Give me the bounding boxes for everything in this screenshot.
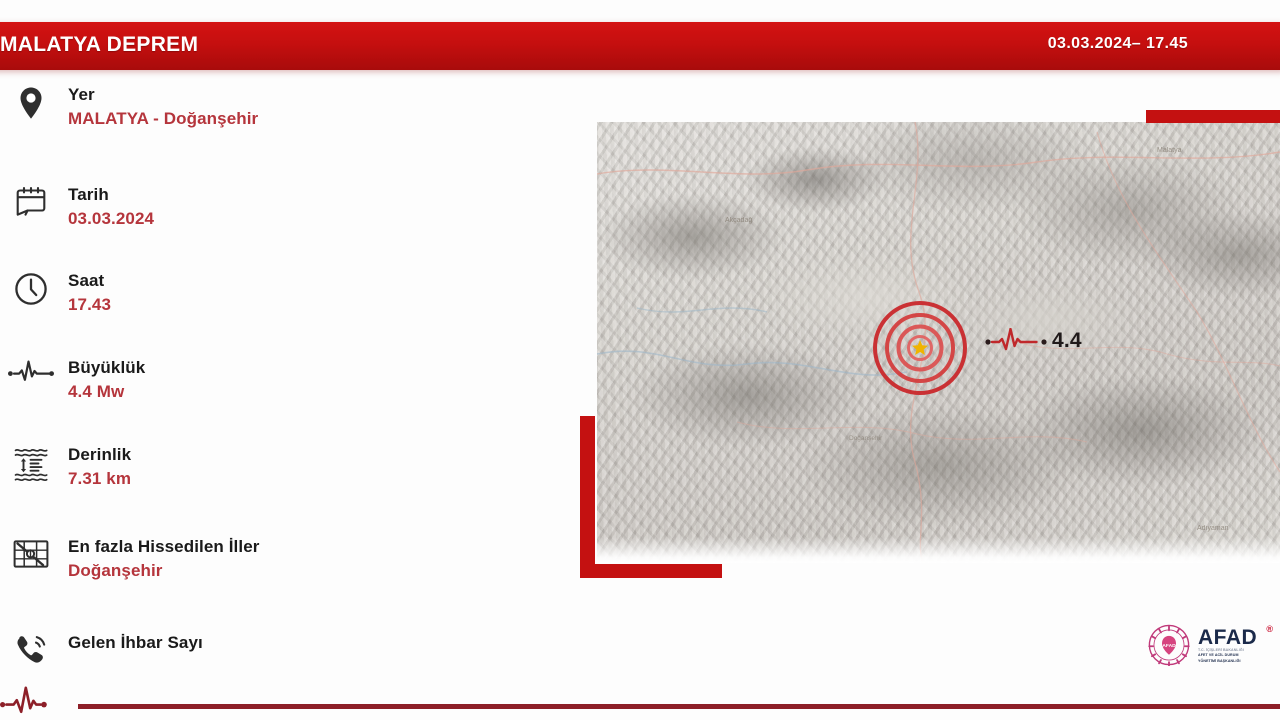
- svg-text:Doğanşehir: Doğanşehir: [849, 435, 883, 442]
- info-row-yer: Yer MALATYA - Doğanşehir: [8, 84, 548, 132]
- map-icon: [8, 536, 54, 570]
- info-text-hissedilen-iller: En fazla Hissedilen İller Doğanşehir: [54, 536, 259, 584]
- epicenter-marker: [872, 300, 968, 396]
- page-title: MALATYA DEPREM: [0, 33, 198, 57]
- info-value-tarih: 03.03.2024: [68, 207, 154, 232]
- info-label-tarih: Tarih: [68, 184, 154, 205]
- info-text-ihbar-sayi: Gelen İhbar Sayı: [54, 632, 203, 655]
- info-label-yer: Yer: [68, 84, 258, 105]
- accent-bar-bottom-horizontal: [580, 564, 722, 578]
- calendar-icon: [8, 184, 54, 218]
- depth-gauge-icon: [8, 444, 54, 484]
- turkish-republic-seal-icon: AFAD: [1148, 624, 1190, 666]
- svg-text:Akçadağ: Akçadağ: [725, 217, 752, 224]
- info-label-saat: Saat: [68, 270, 111, 291]
- accent-bar-left-vertical: [580, 416, 595, 578]
- info-row-ihbar-sayi: Gelen İhbar Sayı: [8, 632, 548, 666]
- info-value-saat: 17.43: [68, 293, 111, 318]
- seismograph-wave-icon: [985, 328, 1047, 354]
- location-pin-icon: [8, 84, 54, 120]
- afad-wordmark-block: AFAD ® T.C. İÇİŞLERİ BAKANLIĞI AFET VE A…: [1198, 623, 1270, 667]
- info-text-saat: Saat 17.43: [54, 270, 111, 318]
- seismograph-wave-icon: [8, 357, 54, 385]
- seismograph-wave-icon: [0, 682, 82, 718]
- svg-text:Malatya: Malatya: [1157, 147, 1182, 154]
- svg-text:AFAD: AFAD: [1162, 643, 1176, 649]
- footer-accent-line: [78, 704, 1280, 709]
- info-value-yer: MALATYA - Doğanşehir: [68, 107, 258, 132]
- afad-wordmark: AFAD: [1198, 623, 1270, 648]
- info-label-ihbar-sayi: Gelen İhbar Sayı: [68, 632, 203, 653]
- info-text-tarih: Tarih 03.03.2024: [54, 184, 154, 232]
- afad-registered-mark: ®: [1266, 624, 1273, 634]
- map-magnitude-label: 4.4: [985, 328, 1082, 354]
- info-text-derinlik: Derinlik 7.31 km: [54, 444, 131, 492]
- info-row-hissedilen-iller: En fazla Hissedilen İller Doğanşehir: [8, 536, 548, 584]
- info-panel: Yer MALATYA - Doğanşehir Tarih 03.03.202…: [0, 84, 560, 664]
- info-value-derinlik: 7.31 km: [68, 467, 131, 492]
- info-text-yer: Yer MALATYA - Doğanşehir: [54, 84, 258, 132]
- phone-ringing-icon: [8, 632, 54, 666]
- clock-icon: [8, 270, 54, 306]
- afad-subtitle-line3: YÖNETİMİ BAŞKANLIĞI: [1198, 659, 1270, 664]
- info-row-derinlik: Derinlik 7.31 km: [8, 444, 548, 492]
- info-text-buyukluk: Büyüklük 4.4 Mw: [54, 357, 145, 405]
- map-magnitude-value: 4.4: [1052, 329, 1082, 353]
- earthquake-info-graphic: MALATYA DEPREM 03.03.2024– 17.45 Yer MAL…: [0, 0, 1280, 720]
- afad-logo: AFAD AFAD ® T.C. İÇİŞLERİ BAKANLIĞI AFET…: [1148, 620, 1272, 670]
- info-label-hissedilen-iller: En fazla Hissedilen İller: [68, 536, 259, 557]
- header-bar: MALATYA DEPREM 03.03.2024– 17.45: [0, 22, 1280, 70]
- header-datetime: 03.03.2024– 17.45: [1048, 35, 1188, 53]
- map-bottom-fade: [597, 537, 1280, 563]
- info-value-hissedilen-iller: Doğanşehir: [68, 559, 259, 584]
- info-row-buyukluk: Büyüklük 4.4 Mw: [8, 357, 548, 405]
- info-label-buyukluk: Büyüklük: [68, 357, 145, 378]
- info-row-tarih: Tarih 03.03.2024: [8, 184, 548, 232]
- info-row-saat: Saat 17.43: [8, 270, 548, 318]
- info-label-derinlik: Derinlik: [68, 444, 131, 465]
- info-value-buyukluk: 4.4 Mw: [68, 380, 145, 405]
- epicenter-star-icon: [911, 339, 929, 357]
- svg-text:Adıyaman: Adıyaman: [1197, 525, 1229, 532]
- accent-bar-top-right: [1146, 110, 1280, 123]
